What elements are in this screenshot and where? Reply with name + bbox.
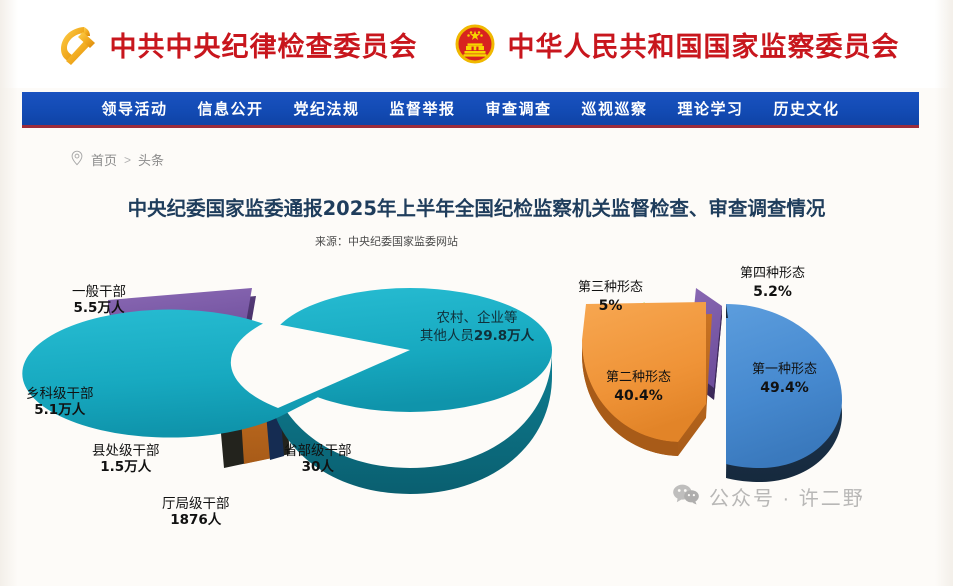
watermark: 公众号 · 许二野 [672, 482, 865, 511]
nav-item-leadership[interactable]: 领导活动 [101, 98, 167, 119]
pie-charts-svg [0, 258, 953, 558]
nav-underline [22, 125, 919, 128]
brand-nation-text: 中华人民共和国国家监察委员会 [508, 25, 900, 64]
breadcrumb-current[interactable]: 头条 [138, 150, 164, 169]
nav-item-investigation[interactable]: 审查调查 [486, 98, 552, 119]
nav-item-theory[interactable]: 理论学习 [678, 98, 744, 119]
page-title: 中央纪委国家监委通报2025年上半年全国纪检监察机关监督检查、审查调查情况 [0, 192, 953, 221]
charts-container: 一般干部 5.5万人 乡科级干部 5.1万人 县处级干部 1.5万人 厅局级干部… [0, 258, 953, 558]
right-label-second-form: 第二种形态 40.4% [606, 370, 671, 405]
nav-item-inspection[interactable]: 巡视巡察 [582, 98, 648, 119]
left-label-provincial-cadre: 省部级干部 30人 [284, 443, 352, 476]
watermark-text: 公众号 · 许二野 [709, 482, 865, 511]
left-label-bureau-cadre: 厅局级干部 1876人 [162, 496, 230, 529]
nav-item-disclosure[interactable]: 信息公开 [197, 98, 263, 119]
left-label-township-cadre: 乡科级干部 5.1万人 [26, 386, 94, 419]
left-label-general-cadre: 一般干部 5.5万人 [72, 284, 126, 317]
party-emblem-icon [54, 22, 100, 66]
breadcrumb: 首页 > 头条 [70, 150, 164, 169]
brand-party-text: 中共中央纪律检查委员会 [110, 25, 418, 64]
wechat-icon [672, 483, 700, 510]
breadcrumb-home[interactable]: 首页 [91, 150, 117, 169]
right-label-first-form: 第一种形态 49.4% [752, 362, 817, 397]
nav-bar: 领导活动 信息公开 党纪法规 监督举报 审查调查 巡视巡察 理论学习 历史文化 [22, 92, 919, 125]
right-label-fourth-form: 第四种形态 5.2% [740, 266, 805, 301]
site-masthead: 中共中央纪律检查委员会 [0, 0, 953, 88]
nav-item-regulations[interactable]: 党纪法规 [293, 98, 359, 119]
national-emblem-icon [452, 22, 498, 66]
page-root: 中共中央纪律检查委员会 [0, 0, 953, 586]
left-label-county-cadre: 县处级干部 1.5万人 [92, 443, 160, 476]
breadcrumb-separator: > [124, 153, 131, 167]
location-pin-icon [70, 150, 84, 169]
article-source: 来源：中央纪委国家监委网站 [0, 233, 953, 249]
nav-item-reporting[interactable]: 监督举报 [389, 98, 455, 119]
right-label-third-form: 第三种形态 5% [578, 280, 643, 315]
brand-nation[interactable]: 中华人民共和国国家监察委员会 [452, 22, 900, 66]
nav-item-history[interactable]: 历史文化 [774, 98, 840, 119]
brand-party[interactable]: 中共中央纪律检查委员会 [54, 22, 418, 66]
left-label-rural-enterprise: 农村、企业等 其他人员29.8万人 [372, 310, 582, 345]
primary-navigation: 领导活动 信息公开 党纪法规 监督举报 审查调查 巡视巡察 理论学习 历史文化 [22, 92, 919, 128]
